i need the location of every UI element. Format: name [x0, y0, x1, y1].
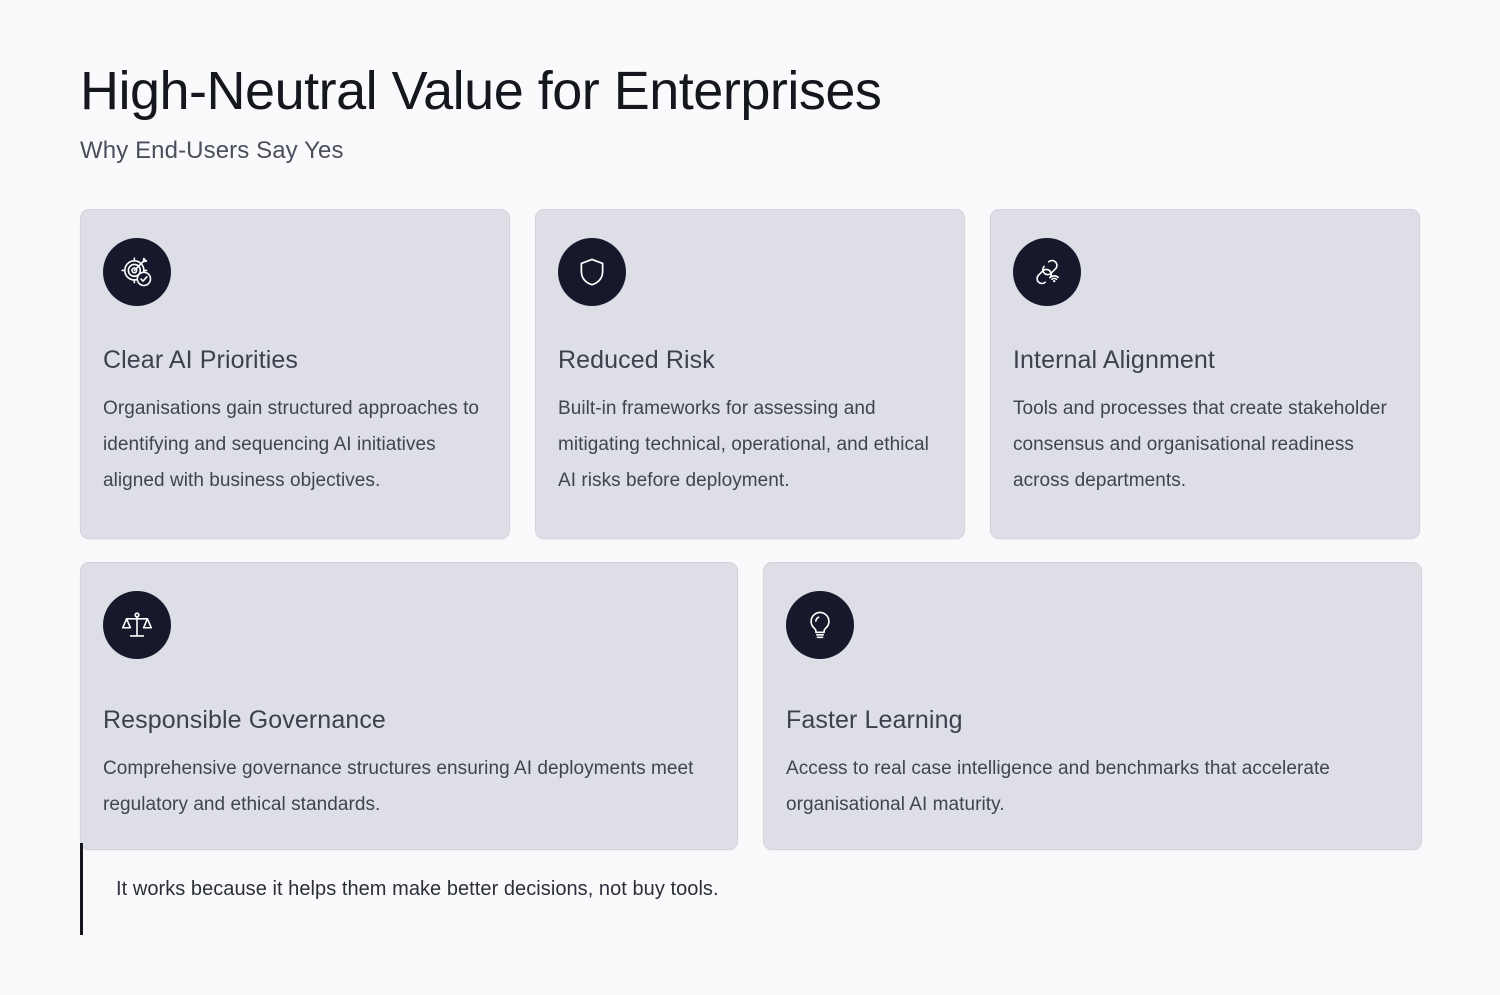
benefit-card-clear-ai-priorities[interactable]: Clear AI Priorities Organisations gain s… — [80, 209, 510, 539]
callout-quote: It works because it helps them make bett… — [80, 843, 1420, 935]
benefit-card-title: Internal Alignment — [1013, 346, 1397, 375]
benefit-card-body: Tools and processes that create stakehol… — [1013, 391, 1397, 499]
benefit-card-body: Organisations gain structured approaches… — [103, 391, 487, 499]
shield-icon — [558, 238, 626, 306]
link-signal-icon — [1013, 238, 1081, 306]
card-row-top: Clear AI Priorities Organisations gain s… — [80, 209, 1420, 539]
benefit-card-grid: Clear AI Priorities Organisations gain s… — [80, 209, 1420, 850]
benefit-card-title: Responsible Governance — [103, 706, 715, 735]
page-title: High-Neutral Value for Enterprises — [80, 60, 1420, 123]
callout-text: It works because it helps them make bett… — [116, 878, 719, 901]
benefit-card-body: Access to real case intelligence and ben… — [786, 751, 1399, 823]
target-check-icon — [103, 238, 171, 306]
benefit-card-internal-alignment[interactable]: Internal Alignment Tools and processes t… — [990, 209, 1420, 539]
benefit-card-body: Built-in frameworks for assessing and mi… — [558, 391, 942, 499]
benefit-card-body: Comprehensive governance structures ensu… — [103, 751, 715, 823]
page-subtitle: Why End-Users Say Yes — [80, 137, 1420, 165]
scales-balance-icon — [103, 591, 171, 659]
benefit-card-title: Faster Learning — [786, 706, 1399, 735]
lightbulb-icon — [786, 591, 854, 659]
benefit-card-title: Reduced Risk — [558, 346, 942, 375]
slide-root: High-Neutral Value for Enterprises Why E… — [0, 0, 1500, 995]
benefit-card-responsible-governance[interactable]: Responsible Governance Comprehensive gov… — [80, 562, 738, 850]
card-row-bottom: Responsible Governance Comprehensive gov… — [80, 562, 1420, 850]
benefit-card-reduced-risk[interactable]: Reduced Risk Built-in frameworks for ass… — [535, 209, 965, 539]
benefit-card-faster-learning[interactable]: Faster Learning Access to real case inte… — [763, 562, 1422, 850]
benefit-card-title: Clear AI Priorities — [103, 346, 487, 375]
header: High-Neutral Value for Enterprises Why E… — [80, 60, 1420, 165]
